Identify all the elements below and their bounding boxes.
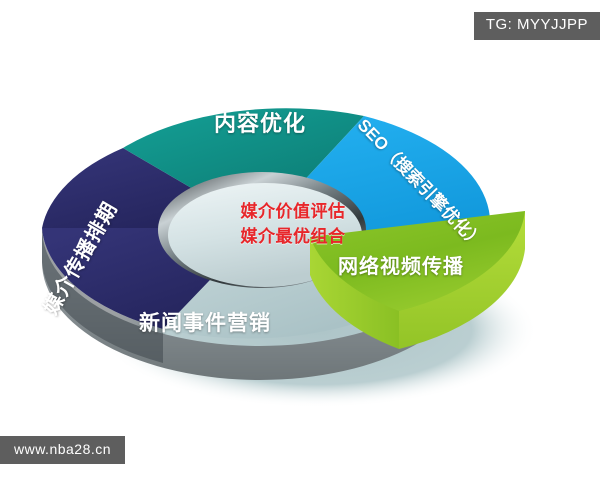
site-watermark-badge: www.nba28.cn	[0, 436, 125, 464]
donut-chart-graphic	[0, 0, 600, 480]
chart-stage: 内容优化 SEO（搜索引擎优化） 网络视频传播 新闻事件营销 媒介传播排期 媒介…	[0, 0, 600, 480]
tg-watermark-badge: TG: MYYJJPP	[474, 12, 600, 40]
